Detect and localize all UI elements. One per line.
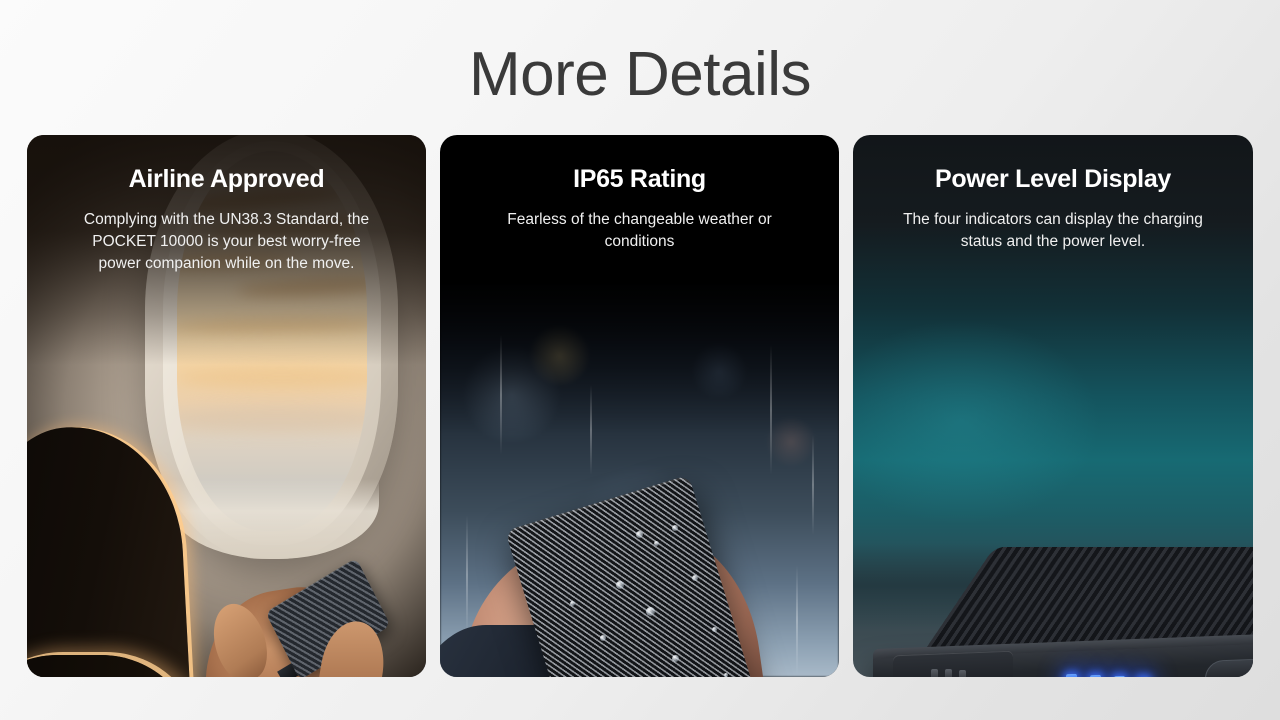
page-title: More Details xyxy=(0,44,1280,106)
details-card-grid: Airline Approved Complying with the UN38… xyxy=(27,135,1253,677)
water-droplet xyxy=(600,635,606,641)
water-droplet xyxy=(712,627,717,632)
power-bank-led-illustration xyxy=(853,135,1253,677)
water-droplet xyxy=(692,575,698,581)
cloud-streak xyxy=(177,406,367,432)
airplane-window-illustration xyxy=(27,135,426,677)
water-droplet xyxy=(570,601,575,606)
card-ip65-rating[interactable]: IP65 Rating Fearless of the changeable w… xyxy=(440,135,839,677)
water-droplet xyxy=(672,655,679,662)
usb-port xyxy=(959,670,966,677)
rain-streak xyxy=(500,335,502,455)
rain-streak xyxy=(590,385,592,475)
water-droplet xyxy=(724,673,728,677)
rain-streak xyxy=(770,345,772,475)
teal-glow xyxy=(853,319,1101,525)
port-plate xyxy=(893,651,1013,677)
top-scrim xyxy=(27,135,426,365)
card-power-level-display[interactable]: Power Level Display The four indicators … xyxy=(853,135,1253,677)
water-droplet xyxy=(654,541,659,546)
usb-port xyxy=(945,669,952,677)
rain-streak xyxy=(796,565,798,675)
water-droplet xyxy=(672,525,678,531)
usb-port xyxy=(931,669,938,677)
water-droplet xyxy=(616,581,624,589)
power-indicator-led-2 xyxy=(1090,675,1101,677)
power-indicator-led-3 xyxy=(1114,676,1125,677)
cloud-streak xyxy=(177,367,367,389)
card-airline-approved[interactable]: Airline Approved Complying with the UN38… xyxy=(27,135,426,677)
power-indicator-led-1 xyxy=(1066,674,1077,677)
rain-scene-illustration xyxy=(440,135,839,677)
water-droplet xyxy=(636,531,643,538)
water-droplet xyxy=(646,607,655,616)
rain-streak xyxy=(466,515,468,635)
rain-streak xyxy=(812,435,814,535)
